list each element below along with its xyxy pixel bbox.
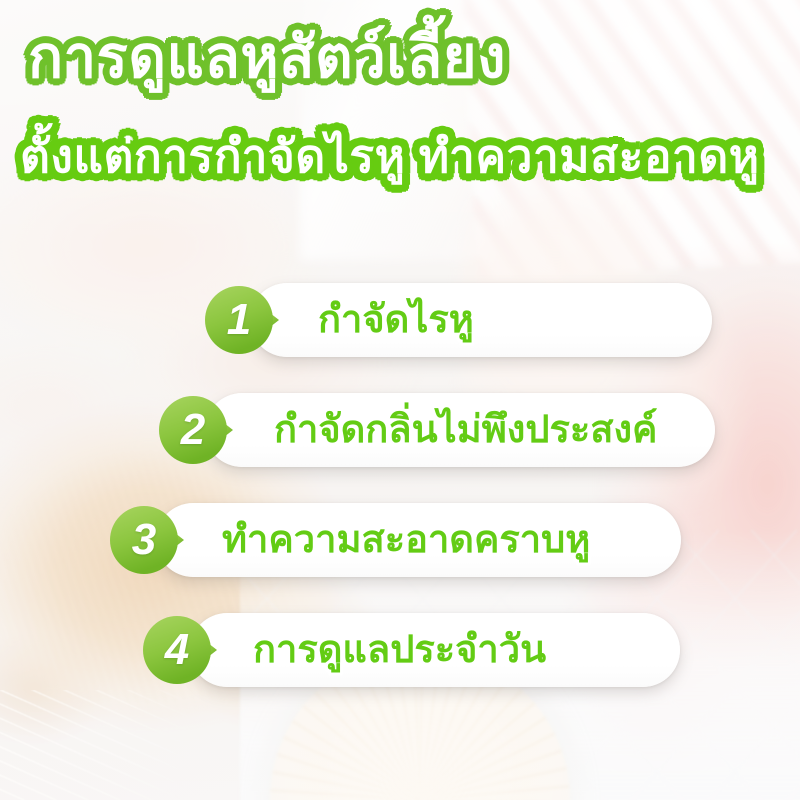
step-label: กำจัดไรหู	[318, 301, 474, 339]
step-badge	[159, 390, 239, 470]
step-label: การดูแลประจำวัน	[253, 631, 546, 669]
step-badge	[110, 500, 190, 580]
step-label: ทำความสะอาดคราบหู	[222, 521, 590, 559]
poster-root: การดูแลหูสัตว์เลี้ยง ตั้งแต่การกำจัดไรหู…	[0, 0, 800, 800]
step-badge	[205, 280, 285, 360]
step-list: 1 กำจัดไรหู 2	[0, 0, 800, 800]
step-label: กำจัดกลิ่นไม่พึงประสงค์	[274, 411, 657, 449]
step-badge	[143, 610, 223, 690]
